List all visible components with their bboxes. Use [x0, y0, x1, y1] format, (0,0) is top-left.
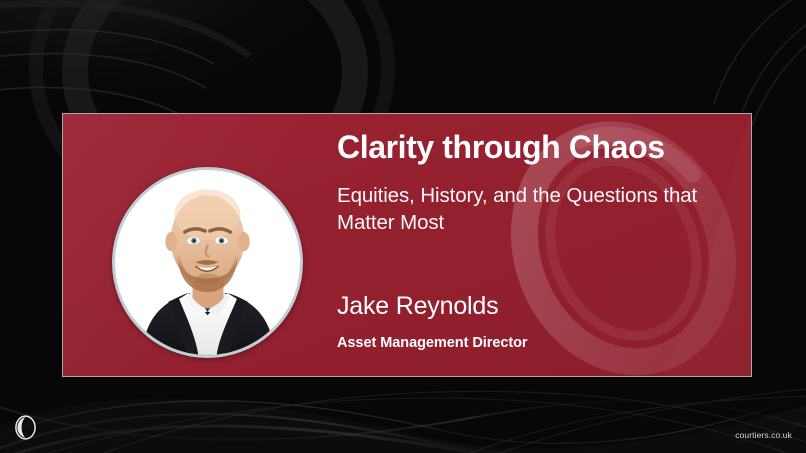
courtiers-circle-logo-icon	[12, 414, 39, 441]
footer-url: courtiers.co.uk	[735, 430, 792, 440]
talk-title: Clarity through Chaos	[337, 130, 737, 165]
headshot-image	[115, 170, 300, 355]
presentation-slide: Clarity through Chaos Equities, History,…	[0, 0, 806, 453]
talk-text-block: Clarity through Chaos Equities, History,…	[337, 130, 737, 236]
talk-subtitle: Equities, History, and the Questions tha…	[337, 182, 729, 237]
speaker-avatar	[112, 167, 303, 358]
speaker-name: Jake Reynolds	[337, 292, 498, 321]
speaker-role: Asset Management Director	[337, 335, 528, 351]
